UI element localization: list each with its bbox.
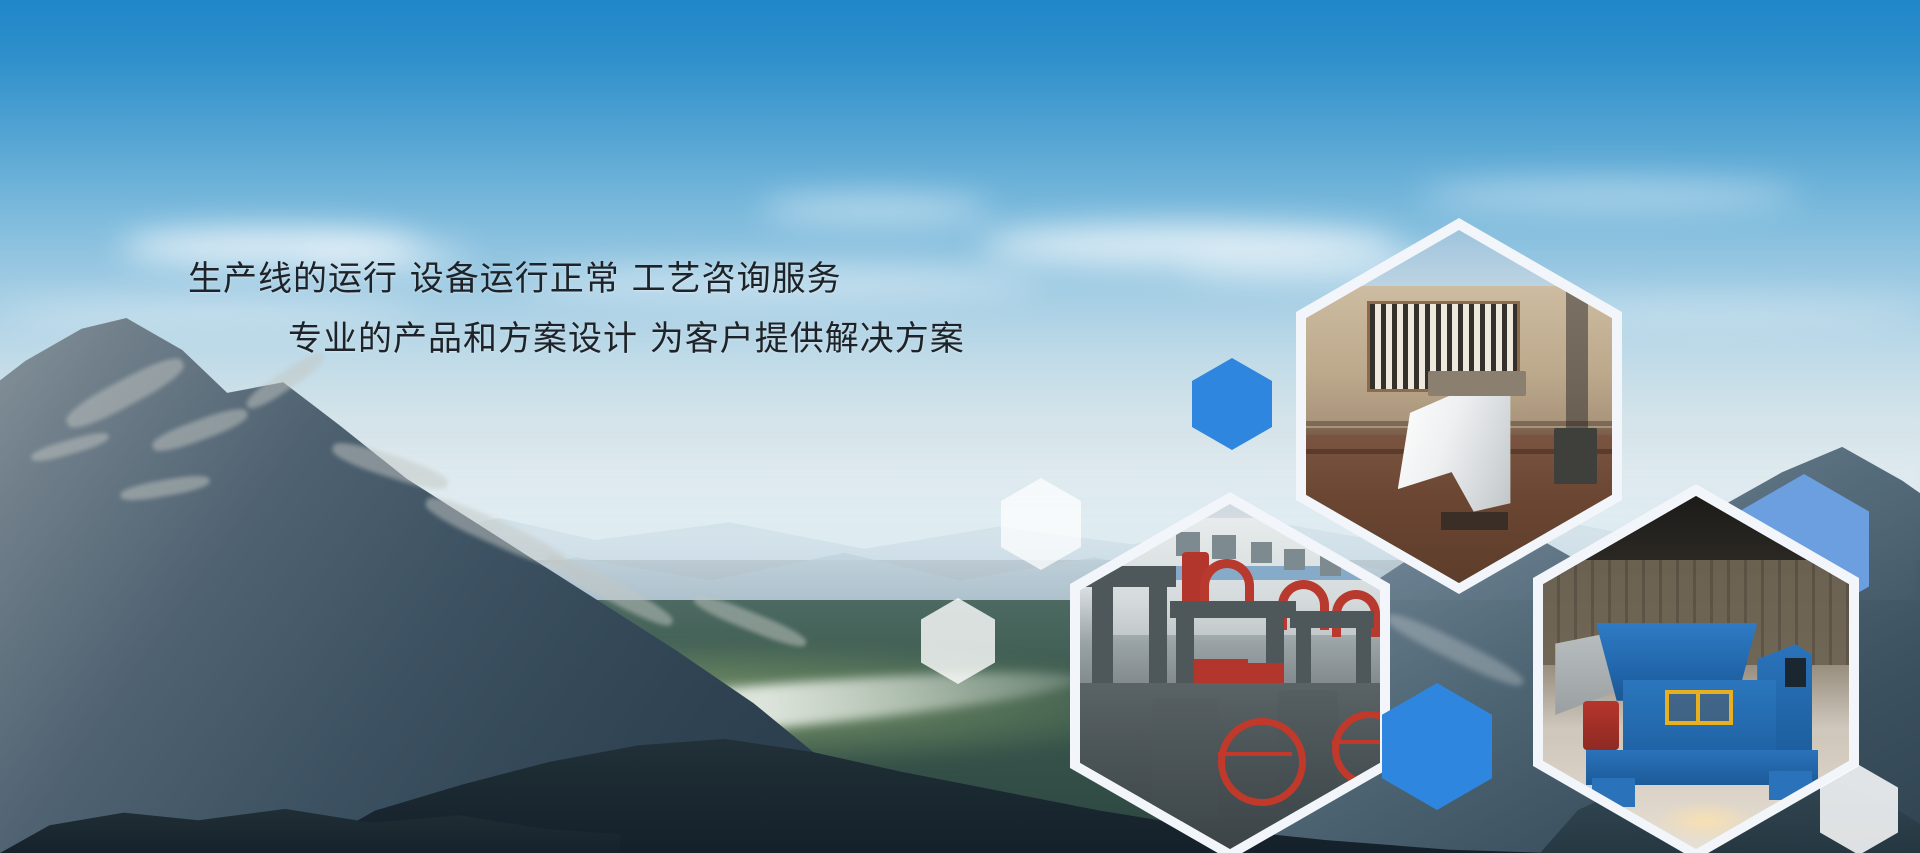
banner-headline: 生产线的运行 设备运行正常 工艺咨询服务 专业的产品和方案设计 为客户提供解决方…: [150, 262, 970, 356]
headline-line-2: 专业的产品和方案设计 为客户提供解决方案: [150, 322, 970, 356]
headline-line-1: 生产线的运行 设备运行正常 工艺咨询服务: [150, 262, 970, 296]
cloud: [1420, 180, 1800, 210]
cloud: [760, 196, 990, 222]
hero-banner: 生产线的运行 设备运行正常 工艺咨询服务 专业的产品和方案设计 为客户提供解决方…: [0, 0, 1920, 853]
